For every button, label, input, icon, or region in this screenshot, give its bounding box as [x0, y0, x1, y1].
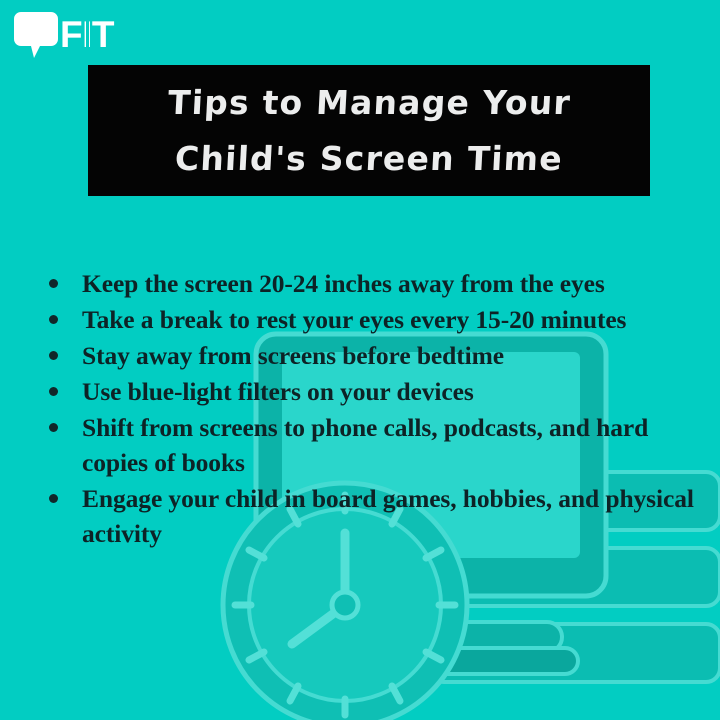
page-title-line-1: Tips to Manage Your [166, 75, 572, 131]
list-item-text: Use blue-light filters on your devices [82, 377, 474, 406]
bullet-icon [49, 494, 58, 503]
page-title-line-2: Child's Screen Time [174, 131, 565, 187]
tips-list: Keep the screen 20-24 inches away from t… [40, 266, 700, 552]
list-item: Take a break to rest your eyes every 15-… [40, 302, 700, 337]
title-banner: Tips to Manage Your Child's Screen Time [88, 65, 650, 196]
poster-canvas: FIT Tips to Manage Your Child's Screen T… [0, 0, 720, 720]
bullet-icon [49, 279, 58, 288]
list-item: Stay away from screens before bedtime [40, 338, 700, 373]
bullet-icon [49, 315, 58, 324]
list-item-text: Take a break to rest your eyes every 15-… [82, 305, 626, 334]
list-item: Keep the screen 20-24 inches away from t… [40, 266, 700, 301]
fit-logo[interactable]: FIT [14, 12, 194, 70]
bullet-icon [49, 387, 58, 396]
list-item-text: Stay away from screens before bedtime [82, 341, 504, 370]
speech-bubble-icon [14, 12, 58, 58]
logo-separator [86, 20, 89, 50]
bullet-icon [49, 423, 58, 432]
list-item: Use blue-light filters on your devices [40, 374, 700, 409]
list-item-text: Keep the screen 20-24 inches away from t… [82, 269, 605, 298]
list-item: Engage your child in board games, hobbie… [40, 481, 700, 551]
bullet-icon [49, 351, 58, 360]
list-item: Shift from screens to phone calls, podca… [40, 410, 700, 480]
list-item-text: Shift from screens to phone calls, podca… [82, 413, 648, 477]
list-item-text: Engage your child in board games, hobbie… [82, 484, 694, 548]
